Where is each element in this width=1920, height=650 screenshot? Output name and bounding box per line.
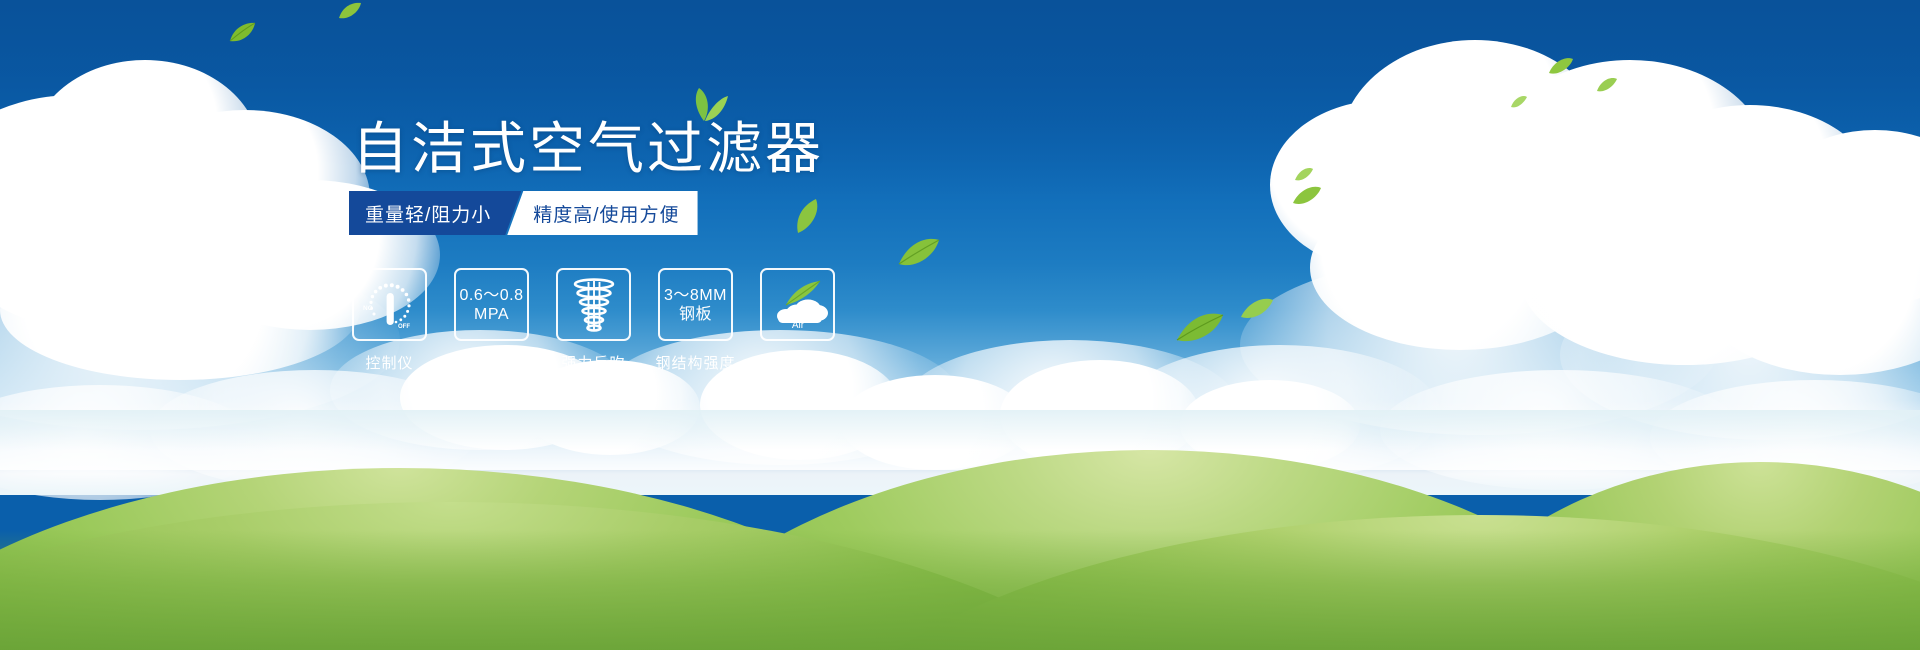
tab-label: 精度高/使用方便	[533, 200, 679, 227]
cloud-air-icon: Air	[768, 279, 828, 331]
steel-plate-text: 钢板	[679, 305, 712, 324]
feature-tabs: 重量轻/阻力小 精度高/使用方便	[349, 191, 698, 235]
pressure-range-text: 0.6～0.8	[460, 286, 524, 305]
tab-weight-resistance[interactable]: 重量轻/阻力小	[349, 191, 521, 235]
page-title: 自洁式空气过滤器	[352, 118, 824, 180]
feature-label: 强力反吹	[561, 352, 625, 373]
feature-item-controller[interactable]: NO OFF 控制仪	[352, 268, 427, 373]
feature-item-steel-strength[interactable]: 3～8MM 钢板 钢结构强度	[658, 268, 733, 373]
feature-icon-box: 0.6～0.8 MPA	[454, 268, 529, 341]
gauge-dial-icon: NO OFF	[360, 278, 420, 332]
air-label: Air	[791, 320, 804, 331]
airflow-blowback-icon	[567, 277, 621, 333]
feature-item-dust-collection[interactable]: Air 集尘	[760, 268, 835, 373]
feature-label: 控制仪	[365, 352, 413, 373]
steel-thickness-text: 3～8MM	[664, 286, 727, 305]
feature-item-filtration[interactable]: 0.6～0.8 MPA 二级过滤	[454, 268, 529, 373]
feature-item-blowback[interactable]: 强力反吹	[556, 268, 631, 373]
feature-icon-box: NO OFF	[352, 268, 427, 341]
tab-label: 重量轻/阻力小	[365, 200, 491, 227]
feature-label: 二级过滤	[459, 352, 523, 373]
dial-max-label: OFF	[398, 324, 410, 330]
feature-icon-box: 3～8MM 钢板	[658, 268, 733, 341]
pressure-unit-text: MPA	[474, 305, 509, 324]
feature-icon-box: Air	[760, 268, 835, 341]
feature-icon-box	[556, 268, 631, 341]
feature-label: 钢结构强度	[656, 352, 736, 373]
dial-min-label: NO	[363, 305, 373, 312]
feature-icon-row: NO OFF 控制仪 0.6～0.8 MPA 二级过滤	[352, 268, 835, 373]
hero-banner: 自洁式空气过滤器 重量轻/阻力小 精度高/使用方便	[0, 0, 1920, 650]
banner-content: 自洁式空气过滤器 重量轻/阻力小 精度高/使用方便	[0, 0, 1920, 650]
feature-label: 集尘	[781, 352, 813, 373]
tab-precision-ease[interactable]: 精度高/使用方便	[507, 191, 697, 235]
